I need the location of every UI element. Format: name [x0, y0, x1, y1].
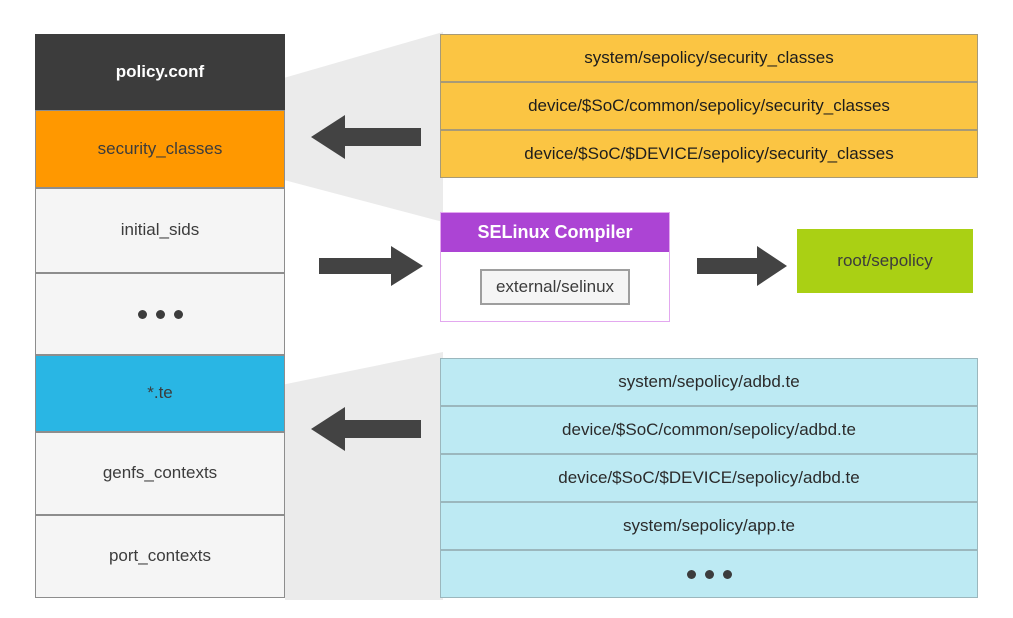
security-classes-source-label: device/$SoC/common/sepolicy/security_cla…	[528, 96, 890, 116]
policy-row-te[interactable]: *.te	[35, 355, 285, 432]
policy-row-ellipsis	[35, 273, 285, 355]
policy-row-security-classes-label: security_classes	[98, 139, 223, 159]
ellipsis-icon	[687, 570, 732, 579]
output-sepolicy-block[interactable]: root/sepolicy	[797, 229, 973, 293]
policy-row-initial-sids[interactable]: initial_sids	[35, 188, 285, 273]
te-source-row[interactable]: device/$SoC/common/sepolicy/adbd.te	[440, 406, 978, 454]
arrow-left-security-classes	[311, 113, 421, 161]
te-source-label: device/$SoC/$DEVICE/sepolicy/adbd.te	[558, 468, 859, 488]
te-source-row[interactable]: system/sepolicy/app.te	[440, 502, 978, 550]
te-source-label: device/$SoC/common/sepolicy/adbd.te	[562, 420, 856, 440]
te-source-row[interactable]: device/$SoC/$DEVICE/sepolicy/adbd.te	[440, 454, 978, 502]
policy-row-initial-sids-label: initial_sids	[121, 220, 199, 240]
te-source-label: system/sepolicy/app.te	[623, 516, 795, 536]
diagram-canvas: policy.conf security_classes initial_sid…	[0, 0, 1013, 618]
te-source-row-ellipsis	[440, 550, 978, 598]
te-source-row[interactable]: system/sepolicy/adbd.te	[440, 358, 978, 406]
policy-row-genfs-contexts-label: genfs_contexts	[103, 463, 217, 483]
te-source-label: system/sepolicy/adbd.te	[618, 372, 799, 392]
selinux-compiler-title: SELinux Compiler	[441, 213, 669, 252]
ellipsis-icon	[138, 310, 183, 319]
funnel-te	[285, 352, 443, 600]
arrow-left-te	[311, 405, 421, 453]
security-classes-source-row[interactable]: system/sepolicy/security_classes	[440, 34, 978, 82]
security-classes-source-row[interactable]: device/$SoC/$DEVICE/sepolicy/security_cl…	[440, 130, 978, 178]
output-sepolicy-label: root/sepolicy	[837, 251, 932, 271]
arrow-right-compiler-to-output	[697, 245, 787, 287]
security-classes-source-label: device/$SoC/$DEVICE/sepolicy/security_cl…	[524, 144, 893, 164]
policy-conf-header: policy.conf	[35, 34, 285, 110]
arrow-right-policy-to-compiler	[319, 245, 423, 287]
security-classes-source-row[interactable]: device/$SoC/common/sepolicy/security_cla…	[440, 82, 978, 130]
policy-conf-header-label: policy.conf	[116, 62, 204, 82]
policy-row-security-classes[interactable]: security_classes	[35, 110, 285, 188]
selinux-compiler-source-path[interactable]: external/selinux	[480, 269, 630, 305]
security-classes-source-label: system/sepolicy/security_classes	[584, 48, 833, 68]
policy-row-genfs-contexts[interactable]: genfs_contexts	[35, 432, 285, 515]
selinux-compiler-body: external/selinux	[441, 252, 669, 321]
policy-row-te-label: *.te	[147, 383, 173, 403]
selinux-compiler-block: SELinux Compiler external/selinux	[440, 212, 670, 322]
policy-row-port-contexts-label: port_contexts	[109, 546, 211, 566]
policy-row-port-contexts[interactable]: port_contexts	[35, 515, 285, 598]
